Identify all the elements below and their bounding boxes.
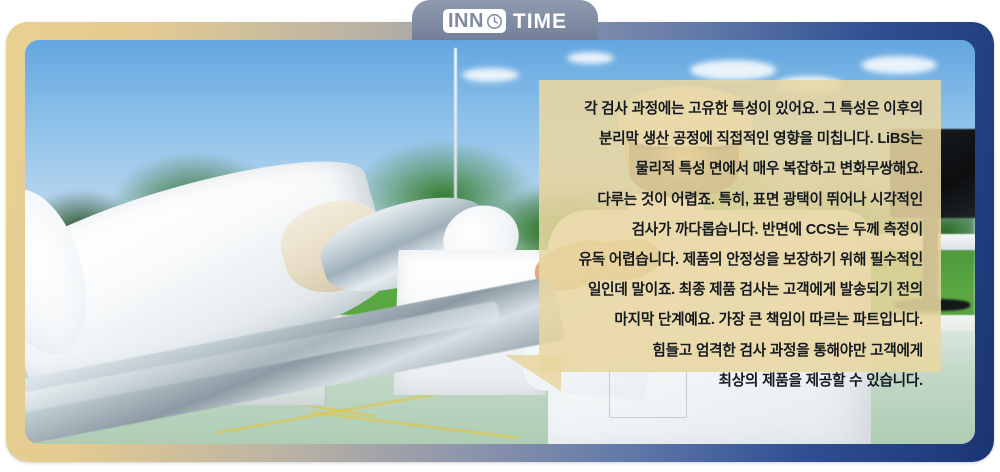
speech-line: 마지막 단계예요. 가장 큰 책임이 따르는 파트입니다. bbox=[553, 305, 923, 335]
speech-line: 각 검사 과정에는 고유한 특성이 있어요. 그 특성은 이후의 bbox=[553, 94, 923, 124]
logo-time-text: TIME bbox=[513, 11, 567, 32]
logo-inn-badge: INN bbox=[443, 9, 506, 33]
speech-line: 유독 어렵습니다. 제품의 안정성을 보장하기 위해 필수적인 bbox=[553, 245, 923, 275]
clock-icon bbox=[486, 13, 503, 30]
speech-line: 다루는 것이 어렵죠. 특히, 표면 광택이 뛰어나 시각적인 bbox=[553, 185, 923, 215]
speech-line: 최상의 제품을 제공할 수 있습니다. bbox=[553, 366, 923, 396]
speech-line: 힘들고 엄격한 검사 과정을 통해야만 고객에게 bbox=[553, 336, 923, 366]
brand-lockup: INN TIME bbox=[443, 9, 567, 33]
logo-inn-text: INN bbox=[448, 11, 484, 31]
speech-bubble-text: 각 검사 과정에는 고유한 특성이 있어요. 그 특성은 이후의 분리막 생산 … bbox=[539, 80, 941, 372]
speech-line: 검사가 까다롭습니다. 반면에 CCS는 두께 측정이 bbox=[553, 215, 923, 245]
slide-stage: 각 검사 과정에는 고유한 특성이 있어요. 그 특성은 이후의 분리막 생산 … bbox=[0, 0, 1000, 472]
brand-logo-tab[interactable]: INN TIME bbox=[412, 0, 598, 40]
speech-bubble: 각 검사 과정에는 고유한 특성이 있어요. 그 특성은 이후의 분리막 생산 … bbox=[539, 80, 941, 372]
speech-line: 물리적 특성 면에서 매우 복잡하고 변화무쌍해요. bbox=[553, 154, 923, 184]
speech-line: 분리막 생산 공정에 직접적인 영향을 미칩니다. LiBS는 bbox=[553, 124, 923, 154]
speech-line: 일인데 말이죠. 최종 제품 검사는 고객에게 발송되기 전의 bbox=[553, 275, 923, 305]
